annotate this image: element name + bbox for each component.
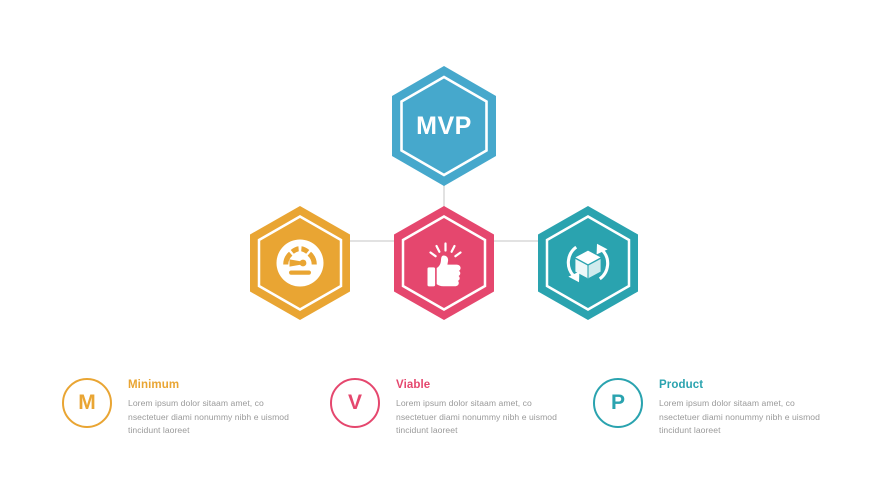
legend-badge-viable: V [330, 378, 380, 428]
legend-badge-product: P [593, 378, 643, 428]
legend-badge-letter: V [348, 391, 362, 415]
legend-item-minimum[interactable]: M Minimum Lorem ipsum dolor sitaam amet,… [62, 370, 292, 438]
legend-body-product: Lorem ipsum dolor sitaam amet, co nsecte… [659, 397, 823, 438]
legend-item-viable[interactable]: V Viable Lorem ipsum dolor sitaam amet, … [330, 370, 560, 438]
hexagon-mvp-fill [392, 66, 496, 186]
legend-body-minimum: Lorem ipsum dolor sitaam amet, co nsecte… [128, 397, 292, 438]
legend-text-minimum: Minimum Lorem ipsum dolor sitaam amet, c… [128, 370, 292, 438]
legend-badge-minimum: M [62, 378, 112, 428]
legend-body-viable: Lorem ipsum dolor sitaam amet, co nsecte… [396, 397, 560, 438]
legend-item-product[interactable]: P Product Lorem ipsum dolor sitaam amet,… [593, 370, 823, 438]
infographic-canvas: MVP [0, 0, 889, 500]
legend-title-minimum: Minimum [128, 378, 292, 392]
legend-title-viable: Viable [396, 378, 560, 392]
legend-row: M Minimum Lorem ipsum dolor sitaam amet,… [0, 370, 889, 460]
legend-title-product: Product [659, 378, 823, 392]
legend-text-viable: Viable Lorem ipsum dolor sitaam amet, co… [396, 370, 560, 438]
legend-badge-letter: M [78, 391, 96, 415]
hexagon-mvp[interactable]: MVP [392, 66, 496, 186]
legend-text-product: Product Lorem ipsum dolor sitaam amet, c… [659, 370, 823, 438]
hexagon-product[interactable] [538, 206, 638, 320]
hexagon-minimum[interactable] [250, 206, 350, 320]
hexagon-viable[interactable] [394, 206, 494, 320]
speedometer-icon [277, 240, 324, 287]
legend-badge-letter: P [611, 391, 625, 415]
